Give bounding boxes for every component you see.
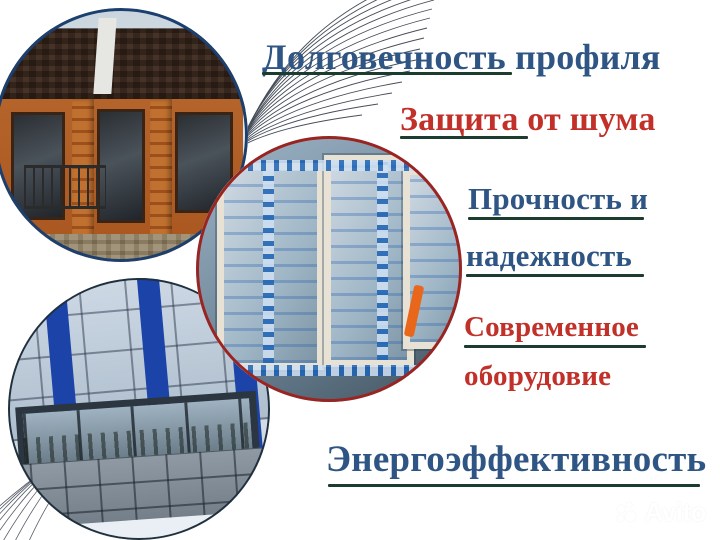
headline-5: Современное	[464, 311, 639, 344]
headline-3-underline	[468, 217, 644, 220]
headline-4-underline	[466, 274, 644, 277]
avito-watermark-text: Avito	[644, 497, 706, 528]
headline-2-underline	[400, 136, 528, 139]
headline-2: Защита от шума	[400, 101, 656, 139]
advertisement-banner: Долговечность профиля Защита от шума Про…	[0, 0, 720, 540]
pvc-windows-photo-art	[196, 136, 462, 402]
headline-6: оборудовие	[464, 360, 611, 393]
avito-logo-icon	[617, 502, 639, 524]
headline-7: Энергоэффективность	[326, 438, 706, 481]
avito-watermark: Avito	[617, 497, 706, 528]
photo-pvc-window-units-veka	[196, 136, 462, 402]
headline-3: Прочность и	[468, 181, 648, 217]
headline-1-underline	[262, 72, 512, 75]
headline-4: надежность	[466, 238, 632, 274]
headline-7-underline	[328, 484, 700, 487]
headline-5-underline	[464, 345, 646, 348]
